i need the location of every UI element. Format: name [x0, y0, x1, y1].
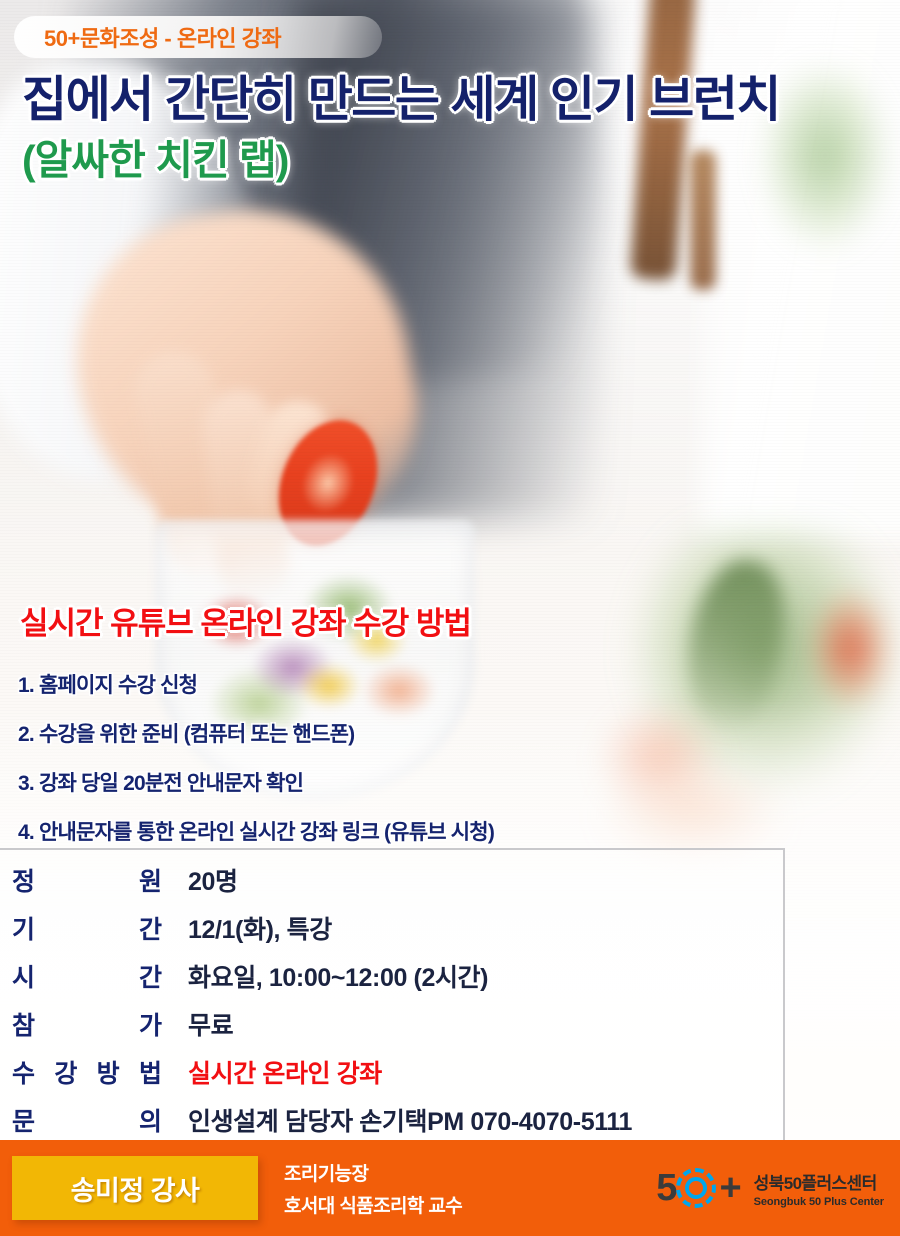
info-value: 무료	[188, 1006, 233, 1042]
info-row-capacity: 정 원 20명	[0, 862, 783, 910]
info-label: 문 의	[12, 1102, 162, 1138]
instructor-name: 송미정 강사	[71, 1169, 200, 1208]
course-poster: 50+문화조성 - 온라인 강좌 집에서 간단히 만드는 세계 인기 브런치 (…	[0, 0, 900, 1236]
category-badge: 50+문화조성 - 온라인 강좌	[14, 16, 382, 58]
instructor-credentials: 조리기능장 호서대 식품조리학 교수	[284, 1159, 462, 1218]
fifty-plus-logo-icon: 5 +	[656, 1168, 741, 1208]
organization-name-en: Seongbuk 50 Plus Center	[754, 1196, 884, 1208]
instructor-name-chip: 송미정 강사	[12, 1156, 258, 1220]
howto-step: 3. 강좌 당일 20분전 안내문자 확인	[18, 767, 900, 797]
instructor-credential: 호서대 식품조리학 교수	[284, 1191, 462, 1218]
info-value: 실시간 온라인 강좌	[188, 1054, 382, 1090]
info-value: 12/1(화), 특강	[188, 910, 332, 946]
info-label: 정 원	[12, 862, 162, 898]
info-row-time: 시 간 화요일, 10:00~12:00 (2시간)	[0, 958, 783, 1006]
info-label: 시 간	[12, 958, 162, 994]
info-row-method: 수 강 방 법 실시간 온라인 강좌	[0, 1054, 783, 1102]
howto-list: 1. 홈페이지 수강 신청 2. 수강을 위한 준비 (컴퓨터 또는 핸드폰) …	[0, 669, 900, 846]
info-value: 인생설계 담당자 손기택PM 070-4070-5111	[188, 1102, 632, 1138]
organization-logo: 5 + 성북50플러스센터 Seongbuk 50 Plus Center	[656, 1168, 884, 1208]
info-value: 화요일, 10:00~12:00 (2시간)	[188, 958, 488, 994]
logo-digit-five: 5	[656, 1169, 675, 1207]
howto-step: 2. 수강을 위한 준비 (컴퓨터 또는 핸드폰)	[18, 718, 900, 748]
organization-name-ko: 성북50플러스센터	[754, 1169, 884, 1194]
instructor-credential: 조리기능장	[284, 1159, 462, 1186]
info-row-fee: 참 가 무료	[0, 1006, 783, 1054]
page-subtitle: (알싸한 치킨 랩)	[22, 136, 900, 185]
poster-footer: 송미정 강사 조리기능장 호서대 식품조리학 교수 5 + 성북50플러스센터 …	[0, 1140, 900, 1236]
organization-name-block: 성북50플러스센터 Seongbuk 50 Plus Center	[754, 1169, 884, 1208]
info-row-period: 기 간 12/1(화), 특강	[0, 910, 783, 958]
page-title: 집에서 간단히 만드는 세계 인기 브런치	[22, 72, 900, 130]
info-label: 수 강 방 법	[12, 1054, 162, 1090]
info-value: 20명	[188, 862, 238, 898]
howto-step: 4. 안내문자를 통한 온라인 실시간 강좌 링크 (유튜브 시청)	[18, 816, 900, 846]
title-block: 집에서 간단히 만드는 세계 인기 브런치 (알싸한 치킨 랩)	[0, 72, 900, 185]
logo-ring-icon	[676, 1168, 716, 1208]
info-label: 참 가	[12, 1006, 162, 1042]
info-label: 기 간	[12, 910, 162, 946]
category-badge-label: 50+문화조성 - 온라인 강좌	[44, 21, 281, 53]
howto-section: 실시간 유튜브 온라인 강좌 수강 방법 1. 홈페이지 수강 신청 2. 수강…	[0, 598, 900, 865]
howto-heading: 실시간 유튜브 온라인 강좌 수강 방법	[20, 598, 900, 643]
course-info-table: 정 원 20명 기 간 12/1(화), 특강 시 간 화요일, 10:00~1…	[0, 848, 785, 1150]
howto-step: 1. 홈페이지 수강 신청	[18, 669, 900, 699]
logo-plus-icon: +	[719, 1169, 741, 1207]
